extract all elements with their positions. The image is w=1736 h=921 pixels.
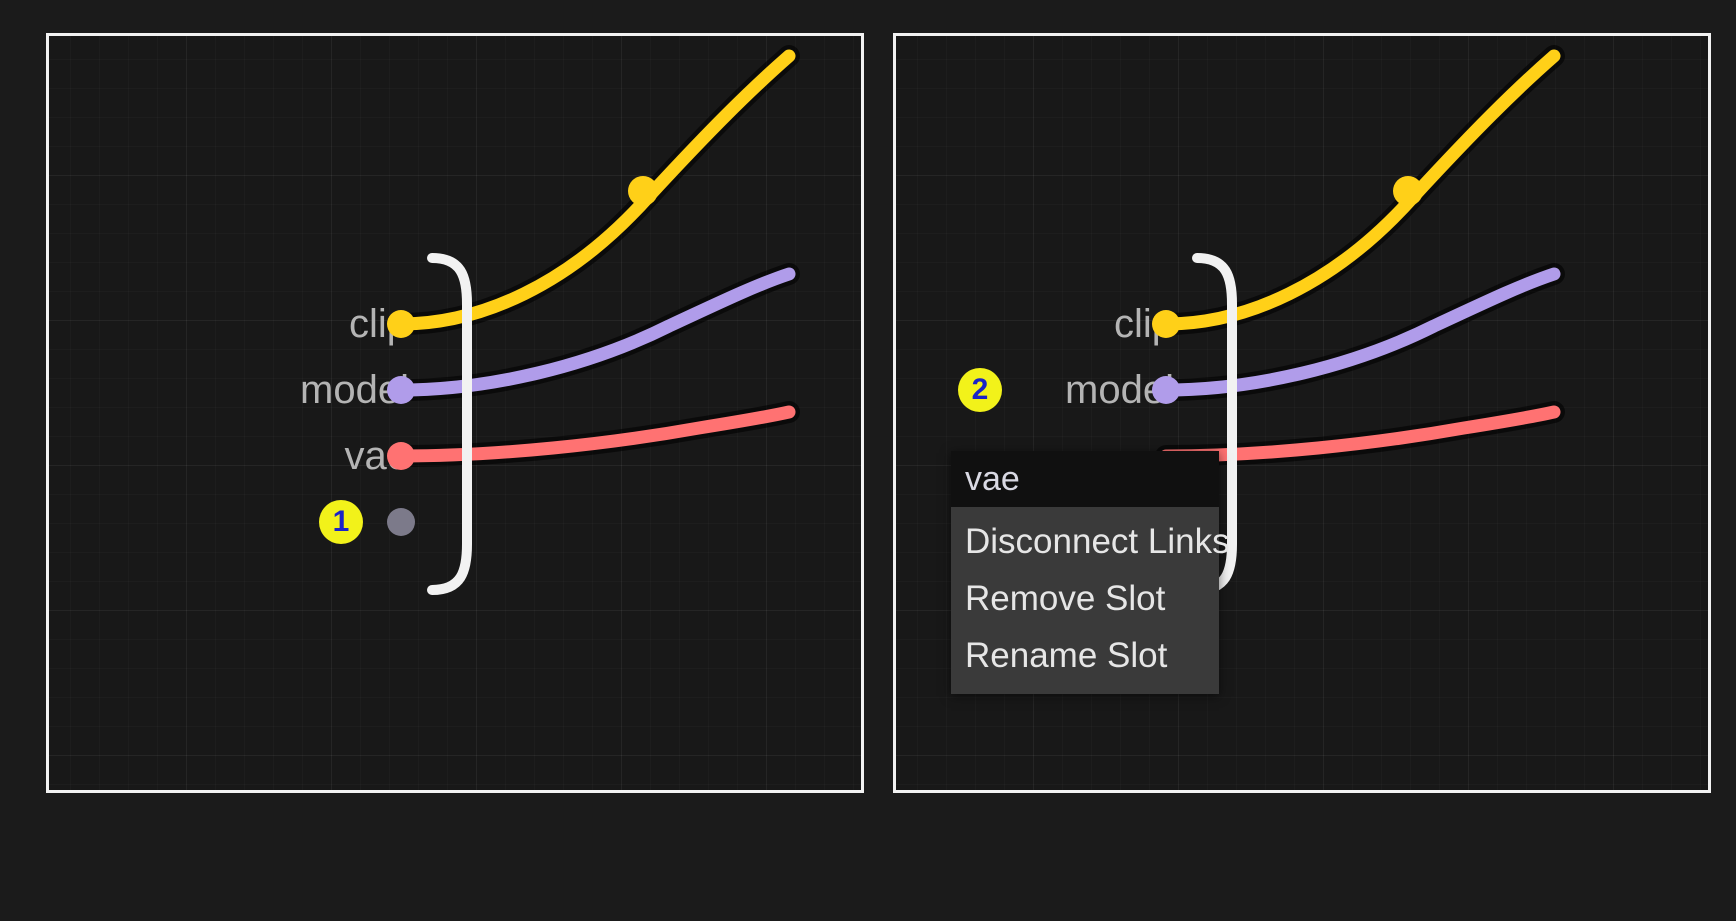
slot-dot-model-right[interactable] — [1152, 376, 1180, 404]
slot-context-menu[interactable]: vae Disconnect Links Remove Slot Rename … — [951, 451, 1219, 694]
slot-label-model-left: model — [249, 370, 409, 410]
context-menu-item-rename-slot[interactable]: Rename Slot — [951, 627, 1219, 684]
context-menu-item-remove-slot[interactable]: Remove Slot — [951, 570, 1219, 627]
node-graph-canvas-left[interactable] — [49, 36, 861, 790]
context-menu-body: Disconnect Links Remove Slot Rename Slot — [951, 507, 1219, 694]
context-menu-item-disconnect-links[interactable]: Disconnect Links — [951, 513, 1219, 570]
step-badge-1: 1 — [319, 500, 363, 544]
screenshot-root: clip model vae 1 clip model 2 — [0, 0, 1736, 921]
slot-label-model-right: model — [1014, 370, 1174, 410]
slot-dot-clip-left[interactable] — [387, 310, 415, 338]
context-menu-title: vae — [951, 451, 1219, 507]
slot-dot-model-left[interactable] — [387, 376, 415, 404]
slot-dot-vae-left[interactable] — [387, 442, 415, 470]
slot-dot-empty-left[interactable] — [387, 508, 415, 536]
panel-after-state: clip model 2 vae Disconnect Links Remove… — [893, 33, 1711, 793]
step-badge-2: 2 — [958, 368, 1002, 412]
panel-before-state: clip model vae 1 — [46, 33, 864, 793]
slot-dot-clip-right[interactable] — [1152, 310, 1180, 338]
